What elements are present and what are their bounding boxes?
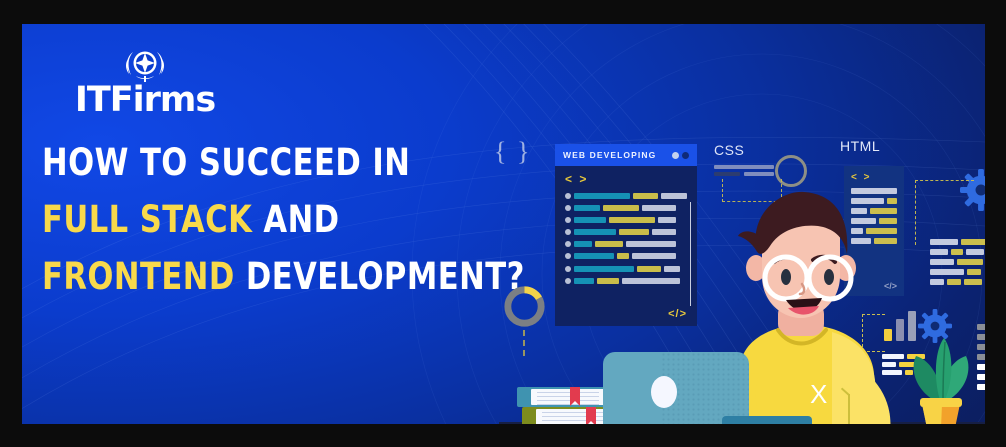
curly-braces-icon: { } — [494, 137, 531, 167]
line-bullet-icon — [565, 217, 571, 223]
right-code-block — [930, 239, 985, 289]
code-window-body: < > </> — [555, 166, 697, 326]
code-segment — [632, 253, 676, 259]
line-bullet-icon — [565, 266, 571, 272]
decor-stem — [848, 394, 850, 424]
code-line — [565, 276, 687, 285]
code-segment — [617, 253, 629, 259]
laptop-base — [722, 416, 812, 424]
stack-bar — [977, 324, 985, 330]
code-segment — [574, 205, 600, 211]
headline-line-3-rest: DEVELOPMENT? — [235, 255, 525, 298]
code-segment — [609, 217, 655, 223]
code-line — [565, 215, 687, 224]
html-label: HTML — [840, 138, 880, 154]
potted-plant — [902, 334, 980, 424]
html-open-tag: < > — [851, 172, 897, 183]
code-segment — [967, 269, 981, 275]
code-segment — [964, 279, 982, 285]
headline: HOW TO SUCCEED IN FULL STACK AND FRONTEN… — [42, 134, 512, 305]
code-segment — [633, 193, 657, 199]
code-window[interactable]: WEB DEVELOPING < > </> — [555, 144, 697, 326]
book-pages — [531, 389, 605, 405]
code-segment — [642, 205, 676, 211]
line-bullet-icon — [565, 193, 571, 199]
code-line — [930, 259, 985, 265]
progress-ring-icon — [501, 283, 548, 330]
code-line — [565, 240, 687, 249]
code-segment — [603, 205, 639, 211]
code-segment — [622, 278, 680, 284]
code-line — [565, 203, 687, 212]
code-window-title: WEB DEVELOPING — [563, 150, 656, 160]
code-segment — [595, 241, 623, 247]
code-segment — [637, 266, 661, 272]
code-segment — [574, 241, 592, 247]
code-line-list — [565, 191, 687, 285]
code-segment — [951, 249, 963, 255]
code-segment — [664, 266, 680, 272]
code-segment — [574, 229, 616, 235]
code-segment — [930, 239, 958, 245]
dashed-connector-right — [915, 180, 974, 245]
code-window-titlebar: WEB DEVELOPING — [555, 144, 697, 166]
banner-stage: ITFirms HOW TO SUCCEED IN FULL STACK AND… — [22, 24, 985, 424]
laptop-lid — [603, 352, 749, 424]
code-open-tag: < > — [565, 172, 687, 186]
code-segment — [930, 279, 944, 285]
headline-line-1: HOW TO SUCCEED IN — [42, 134, 474, 191]
code-segment — [652, 229, 676, 235]
code-segment — [574, 193, 630, 199]
headline-highlight-full-stack: FULL STACK — [42, 198, 252, 241]
headline-line-3: FRONTEND DEVELOPMENT? — [42, 248, 474, 305]
code-segment — [619, 229, 649, 235]
line-bullet-icon — [565, 229, 571, 235]
code-segment — [574, 253, 614, 259]
css-label: CSS — [714, 142, 744, 158]
code-segment — [947, 279, 961, 285]
laptop-logo — [651, 376, 677, 408]
dashed-connector-left — [523, 330, 525, 356]
bookmark-icon — [586, 407, 596, 421]
code-segment — [626, 241, 676, 247]
code-line — [565, 264, 687, 273]
line-bullet-icon — [565, 253, 571, 259]
code-segment — [597, 278, 619, 284]
code-line — [930, 249, 985, 255]
code-segment — [574, 278, 594, 284]
code-line — [930, 269, 985, 275]
banner-frame: ITFirms HOW TO SUCCEED IN FULL STACK AND… — [0, 0, 1006, 447]
code-segment — [574, 266, 634, 272]
code-segment — [957, 259, 983, 265]
code-segment — [930, 249, 948, 255]
headline-line-2: FULL STACK AND — [42, 191, 474, 248]
code-segment — [930, 269, 964, 275]
brand-logo[interactable]: ITFirms — [55, 46, 235, 118]
code-line — [565, 252, 687, 261]
code-window-toggle[interactable] — [672, 152, 689, 159]
toggle-dot-light — [672, 152, 679, 159]
headline-highlight-frontend: FRONTEND — [42, 255, 235, 298]
code-segment — [574, 217, 606, 223]
brand-wordmark: ITFirms — [55, 83, 235, 118]
book-top — [517, 387, 607, 407]
code-segment — [966, 249, 984, 255]
line-bullet-icon — [565, 241, 571, 247]
line-bullet-icon — [565, 278, 571, 284]
x-mark-icon: X — [810, 379, 827, 410]
code-line — [565, 228, 687, 237]
code-line — [565, 191, 687, 200]
css-bar-group — [714, 165, 774, 176]
code-line — [930, 239, 985, 245]
bookmark-icon — [570, 387, 580, 401]
code-segment — [658, 217, 676, 223]
code-segment — [930, 259, 954, 265]
toggle-dot-dark — [682, 152, 689, 159]
code-segment — [961, 239, 985, 245]
headline-line-2-rest: AND — [252, 198, 339, 241]
code-line — [930, 279, 985, 285]
line-bullet-icon — [565, 205, 571, 211]
